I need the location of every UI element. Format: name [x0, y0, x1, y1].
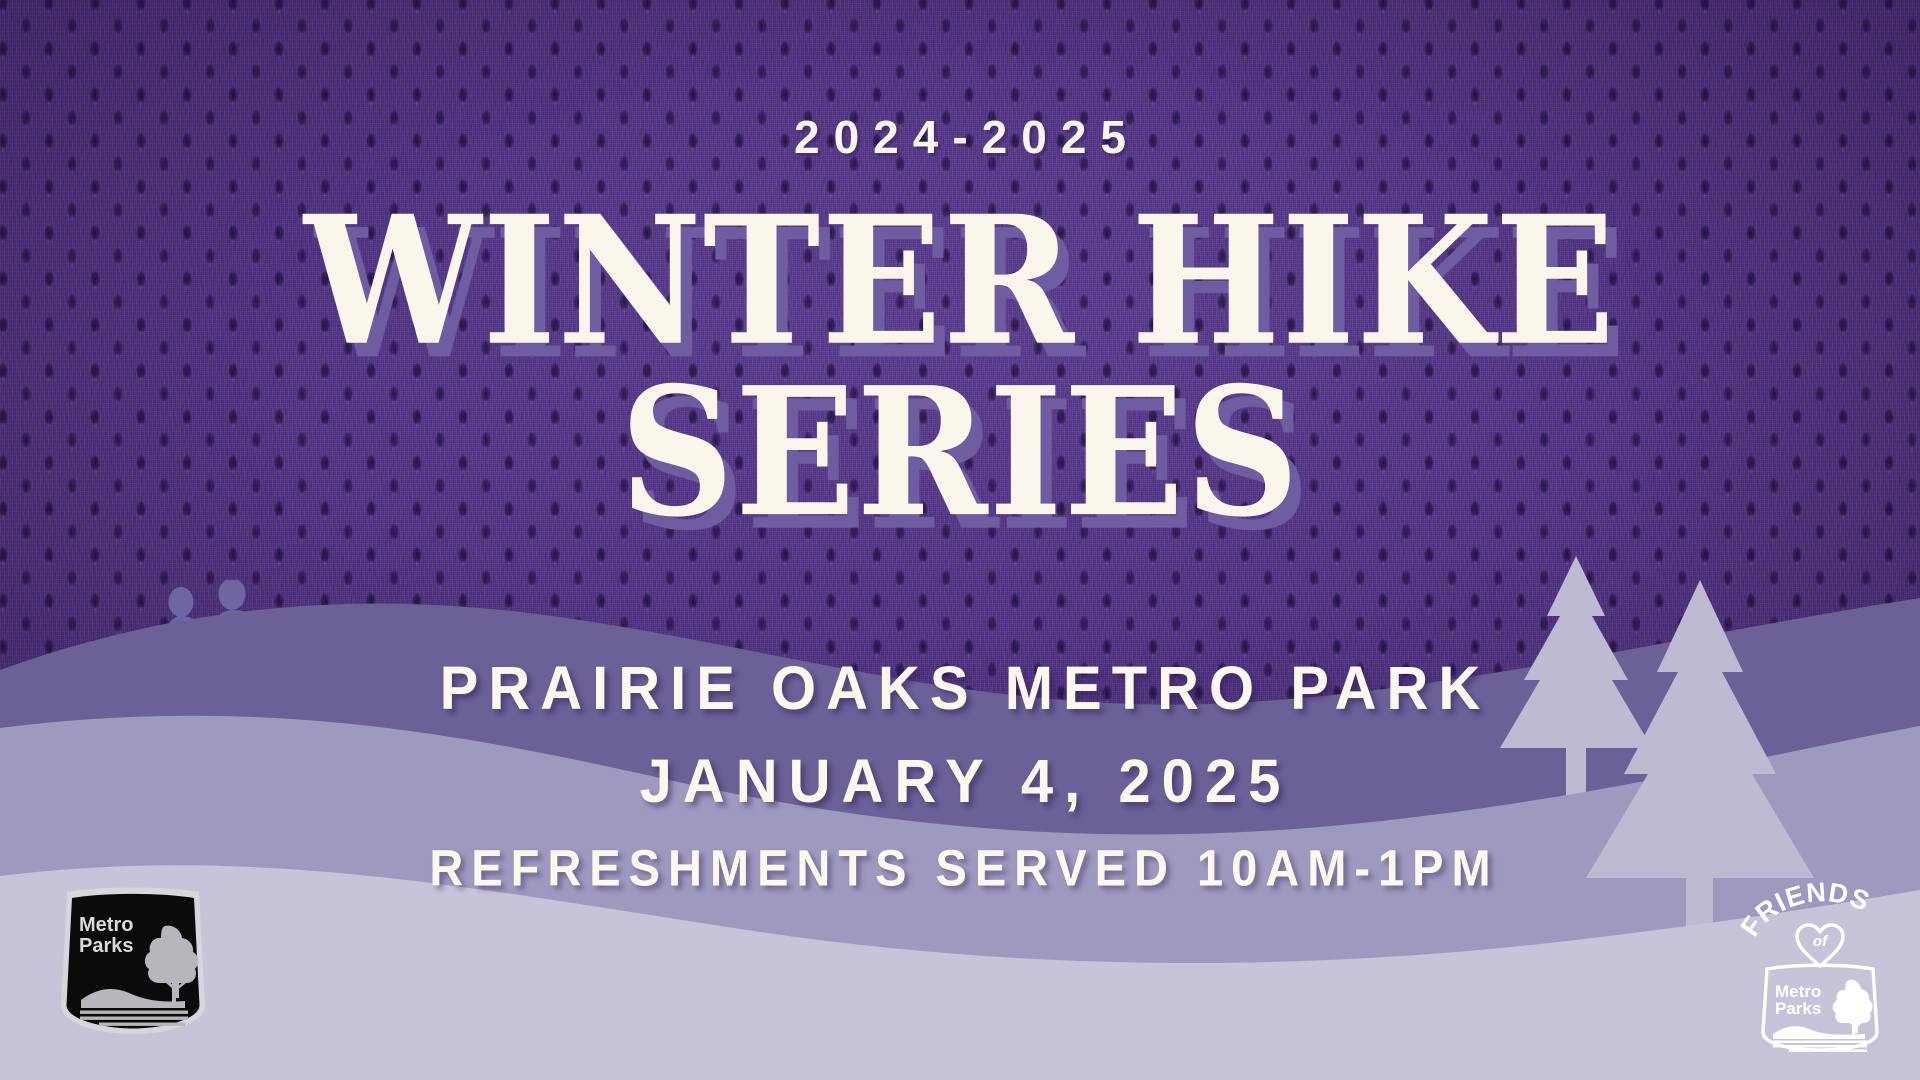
- friends-heart-text: of: [1813, 933, 1829, 950]
- friends-heart-icon: of: [1797, 925, 1843, 966]
- winter-hike-series-poster: 2024-2025 WINTER HIKE SERIES PRAIRIE OAK…: [0, 0, 1920, 1080]
- friends-text-parks: Parks: [1775, 999, 1821, 1018]
- year-range: 2024-2025: [0, 110, 1920, 164]
- friends-arc-text: FRIENDS: [1735, 877, 1875, 942]
- refreshments-notice: REFRESHMENTS SERVED 10AM-1PM: [0, 838, 1920, 897]
- park-name: PRAIRIE OAKS METRO PARK: [0, 653, 1920, 724]
- poster-text-content: 2024-2025 WINTER HIKE SERIES PRAIRIE OAK…: [0, 0, 1920, 1080]
- title-line-2: SERIES: [0, 368, 1920, 540]
- event-date: JANUARY 4, 2025: [0, 746, 1920, 817]
- metro-parks-logo: Metro Parks: [55, 886, 211, 1036]
- logo-text-metro: Metro: [79, 914, 133, 936]
- poster-title: WINTER HIKE SERIES: [0, 196, 1920, 539]
- logo-text-parks: Parks: [79, 935, 134, 957]
- friends-of-metro-parks-logo: FRIENDS of Metro: [1745, 884, 1895, 1056]
